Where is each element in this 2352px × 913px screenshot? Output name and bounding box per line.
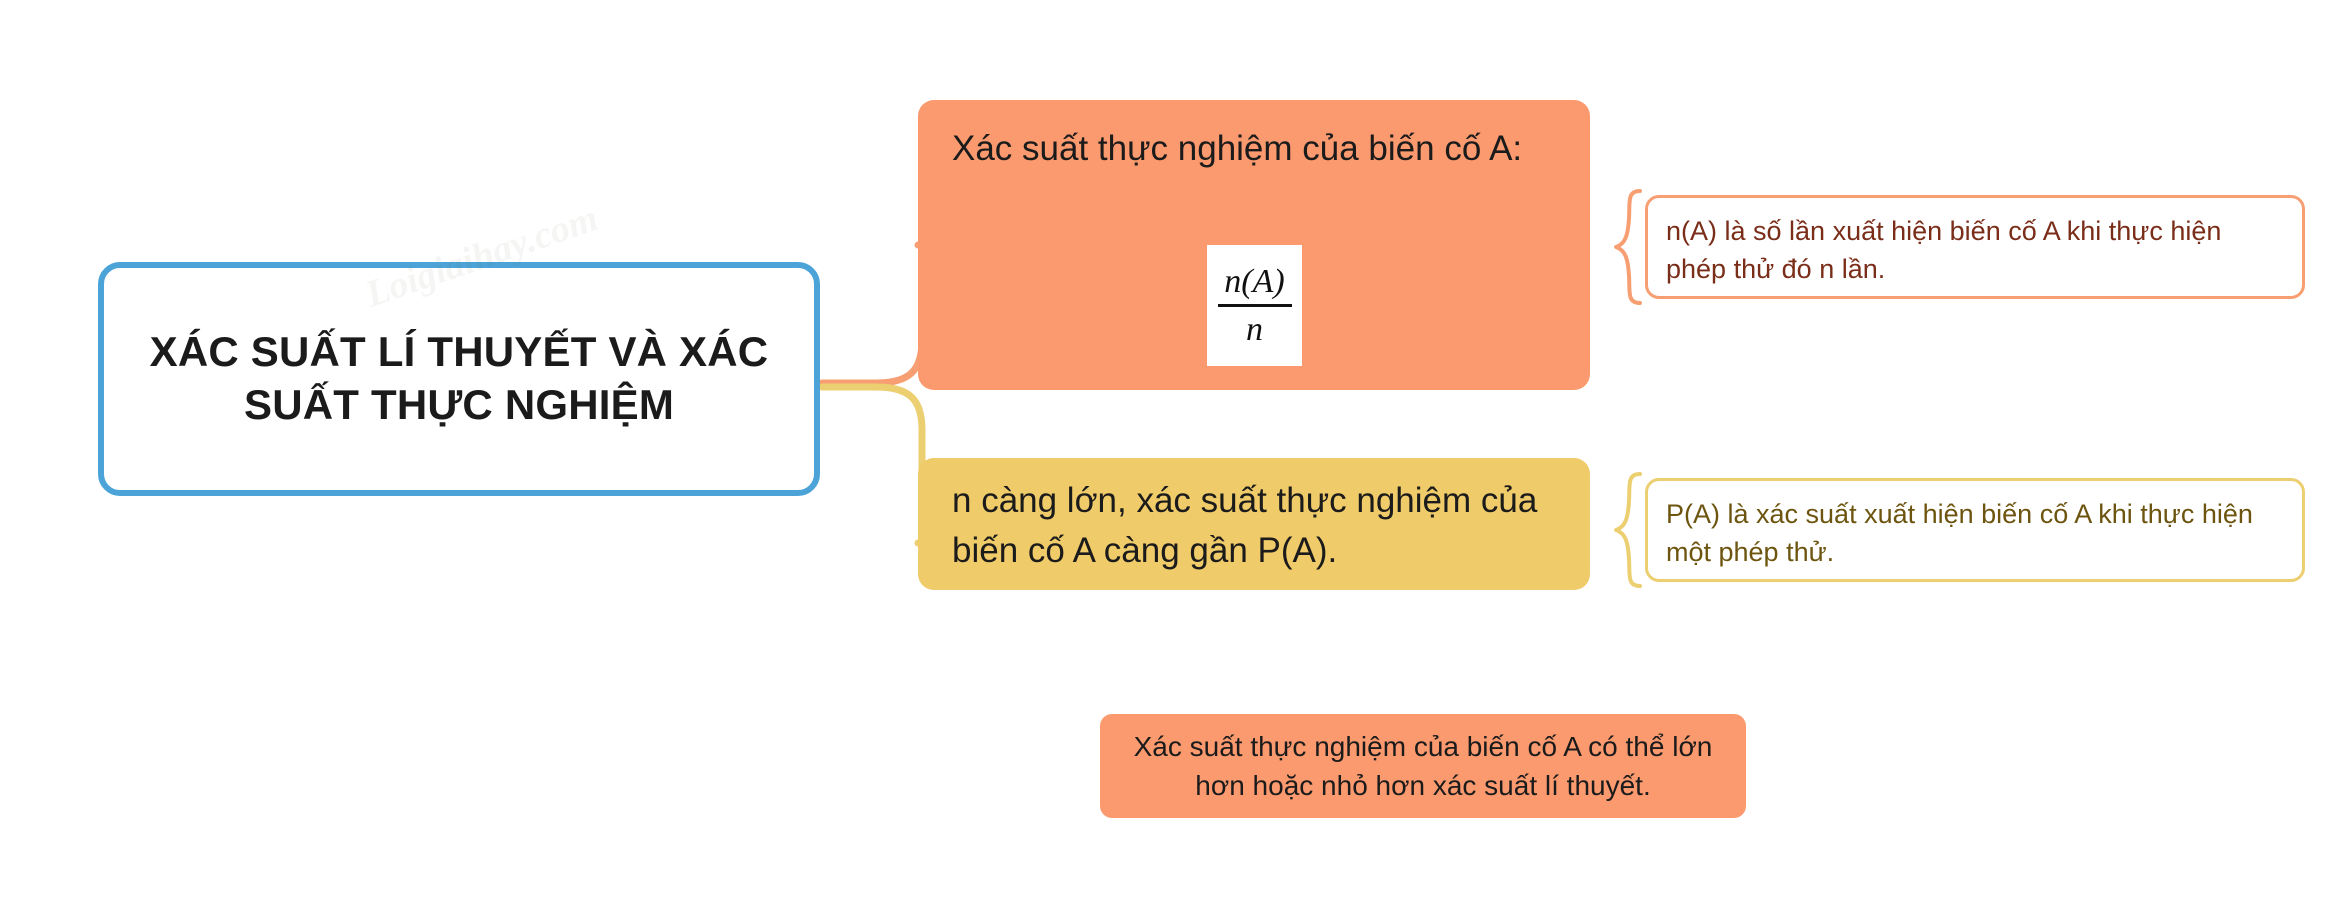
node-label: n càng lớn, xác suất thực nghiệm của biế… xyxy=(952,476,1566,575)
callout-text: P(A) là xác suất xuất hiện biến cố A khi… xyxy=(1648,481,2302,586)
fraction-denominator: n xyxy=(1242,307,1267,347)
callout-text: n(A) là số lần xuất hiện biến cố A khi t… xyxy=(1648,198,2302,303)
formula-fraction: n(A) n xyxy=(1207,245,1302,366)
node-label: Xác suất thực nghiệm của biến cố A: xyxy=(952,124,1552,174)
node-label: Xác suất thực nghiệm của biến cố A có th… xyxy=(1100,727,1746,805)
brace-yellow-icon xyxy=(1613,471,1643,589)
node-law-of-large-numbers[interactable]: Loigiaihay.com n càng lớn, xác suất thực… xyxy=(918,458,1590,590)
root-title: XÁC SUẤT LÍ THUYẾT VÀ XÁC SUẤT THỰC NGHI… xyxy=(104,326,814,432)
callout-p-of-a[interactable]: P(A) là xác suất xuất hiện biến cố A khi… xyxy=(1645,478,2305,582)
root-node[interactable]: XÁC SUẤT LÍ THUYẾT VÀ XÁC SUẤT THỰC NGHI… xyxy=(98,262,820,496)
callout-n-of-a[interactable]: n(A) là số lần xuất hiện biến cố A khi t… xyxy=(1645,195,2305,299)
fraction-numerator: n(A) xyxy=(1220,265,1288,304)
mindmap-canvas: XÁC SUẤT LÍ THUYẾT VÀ XÁC SUẤT THỰC NGHI… xyxy=(0,0,2352,913)
node-note[interactable]: Loigiaihay.com Xác suất thực nghiệm của … xyxy=(1100,714,1746,818)
brace-orange-icon xyxy=(1613,188,1643,306)
